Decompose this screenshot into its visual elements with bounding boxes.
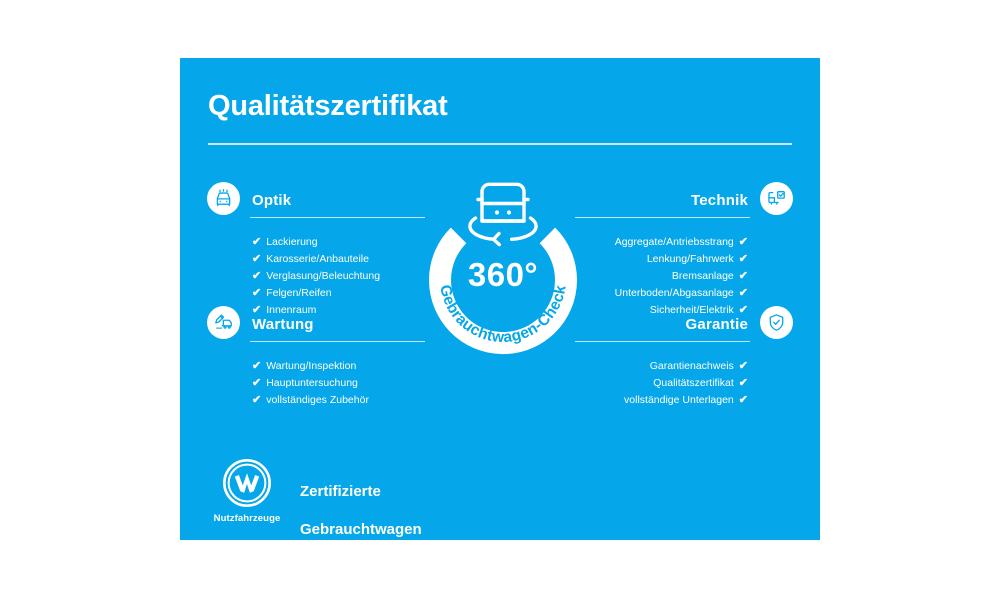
list-item-label: Lenkung/Fahrwerk [647, 253, 734, 265]
certificate-panel: Qualitätszertifikat Optik [180, 58, 820, 540]
list-item-label: Hauptuntersuchung [266, 377, 358, 389]
list-item: ✔vollständiges Zubehör [198, 392, 443, 409]
car-rotate-360-icon [470, 184, 536, 244]
section-title-technik: Technik [691, 192, 748, 209]
van-service-pen-icon [207, 306, 240, 339]
section-garantie: Garantie Garantienachweis✔ Qualitätszert… [557, 314, 802, 409]
car-front-wash-icon [207, 182, 240, 215]
list-item-label: Karosserie/Anbauteile [266, 253, 369, 265]
list-item-label: Garantienachweis [650, 360, 734, 372]
check-icon: ✔ [252, 236, 261, 248]
list-item-label: vollständiges Zubehör [266, 394, 369, 406]
list-item-label: Felgen/Reifen [266, 287, 331, 299]
vehicle-checklist-icon [760, 182, 793, 215]
section-header-optik: Optik [198, 190, 443, 230]
checklist-optik: ✔Lackierung ✔Karosserie/Anbauteile ✔Verg… [198, 234, 443, 319]
checklist-technik: Aggregate/Antriebsstrang✔ Lenkung/Fahrwe… [557, 234, 802, 319]
list-item: Qualitätszertifikat✔ [557, 375, 802, 392]
checklist-garantie: Garantienachweis✔ Qualitätszertifikat✔ v… [557, 358, 802, 409]
list-item-label: Unterboden/Abgasanlage [615, 287, 734, 299]
shield-check-icon [760, 306, 793, 339]
check-icon: ✔ [252, 287, 261, 299]
badge-360-gebrauchtwagen-check: 360° Gebrauchtwagen-Check [418, 163, 588, 363]
list-item: ✔Karosserie/Anbauteile [198, 251, 443, 268]
checklist-wartung: ✔Wartung/Inspektion ✔Hauptuntersuchung ✔… [198, 358, 443, 409]
list-item: ✔Hauptuntersuchung [198, 375, 443, 392]
section-title-wartung: Wartung [252, 316, 314, 333]
check-icon: ✔ [739, 377, 748, 389]
list-item-label: Aggregate/Antriebsstrang [615, 236, 734, 248]
list-item-label: Verglasung/Beleuchtung [266, 270, 380, 282]
section-technik: Technik Aggregate/Antriebsstrang✔ Lenkun… [557, 190, 802, 319]
check-icon: ✔ [739, 287, 748, 299]
vw-brand-block: Nutzfahrzeuge [208, 458, 286, 524]
check-icon: ✔ [252, 270, 261, 282]
footer-claim: Zertifizierte Gebrauchtwagen [300, 463, 422, 558]
footer-claim-line1: Zertifizierte [300, 482, 422, 501]
check-icon: ✔ [739, 360, 748, 372]
section-header-wartung: Wartung [198, 314, 443, 354]
check-icon: ✔ [739, 270, 748, 282]
check-icon: ✔ [739, 236, 748, 248]
list-item: Bremsanlage✔ [557, 268, 802, 285]
vw-logo-subtitle: Nutzfahrzeuge [208, 513, 286, 524]
list-item-label: vollständige Unterlagen [624, 394, 734, 406]
vw-logo [222, 458, 272, 508]
list-item: Lenkung/Fahrwerk✔ [557, 251, 802, 268]
check-icon: ✔ [739, 253, 748, 265]
list-item: ✔Verglasung/Beleuchtung [198, 268, 443, 285]
check-icon: ✔ [252, 360, 261, 372]
section-header-garantie: Garantie [557, 314, 802, 354]
list-item-label: Wartung/Inspektion [266, 360, 356, 372]
check-icon: ✔ [252, 253, 261, 265]
section-title-optik: Optik [252, 192, 291, 209]
list-item: ✔Lackierung [198, 234, 443, 251]
list-item-label: Qualitätszertifikat [653, 377, 734, 389]
section-divider-wartung [250, 341, 425, 342]
section-title-garantie: Garantie [686, 316, 748, 333]
list-item: Aggregate/Antriebsstrang✔ [557, 234, 802, 251]
footer-branding: Nutzfahrzeuge Zertifizierte Gebrauchtwag… [208, 458, 422, 558]
section-divider-technik [575, 217, 750, 218]
title-divider [208, 143, 792, 145]
list-item: ✔Felgen/Reifen [198, 285, 443, 302]
check-icon: ✔ [739, 394, 748, 406]
list-item-label: Lackierung [266, 236, 317, 248]
section-header-technik: Technik [557, 190, 802, 230]
list-item: Unterboden/Abgasanlage✔ [557, 285, 802, 302]
badge-center-label: 360° [468, 256, 538, 293]
list-item: Garantienachweis✔ [557, 358, 802, 375]
footer-claim-line2: Gebrauchtwagen [300, 520, 422, 539]
check-icon: ✔ [252, 377, 261, 389]
section-optik: Optik ✔Lackierung ✔Karosserie/Anbauteile… [198, 190, 443, 319]
check-icon: ✔ [252, 394, 261, 406]
list-item: ✔Wartung/Inspektion [198, 358, 443, 375]
section-wartung: Wartung ✔Wartung/Inspektion ✔Hauptunters… [198, 314, 443, 409]
certificate-canvas: Qualitätszertifikat Optik [0, 0, 1000, 600]
section-divider-garantie [575, 341, 750, 342]
list-item-label: Bremsanlage [672, 270, 734, 282]
page-title: Qualitätszertifikat [208, 90, 448, 123]
section-divider-optik [250, 217, 425, 218]
list-item: vollständige Unterlagen✔ [557, 392, 802, 409]
